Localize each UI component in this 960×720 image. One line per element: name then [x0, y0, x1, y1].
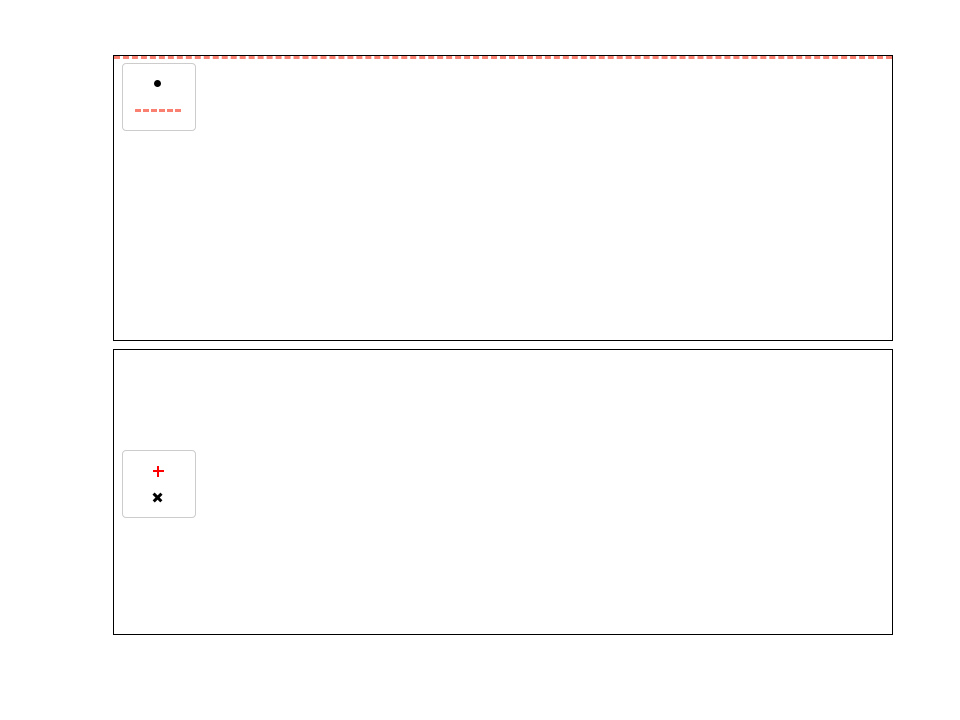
top-panel-axes	[113, 55, 893, 341]
threshold-line	[114, 56, 892, 59]
figure-canvas	[0, 0, 960, 720]
bottom-legend[interactable]	[122, 450, 196, 518]
measurements-marker-icon	[132, 74, 184, 94]
bottom-panel-axes	[113, 349, 893, 635]
threshold-line-icon	[132, 100, 184, 120]
legend-item-matched-stars	[132, 458, 184, 484]
plus-marker-icon	[132, 461, 184, 481]
legend-item-threshold	[132, 97, 184, 123]
legend-item-predicted-stars	[132, 484, 184, 510]
cross-marker-icon	[132, 487, 184, 507]
top-legend[interactable]	[122, 63, 196, 131]
legend-item-measurements	[132, 71, 184, 97]
